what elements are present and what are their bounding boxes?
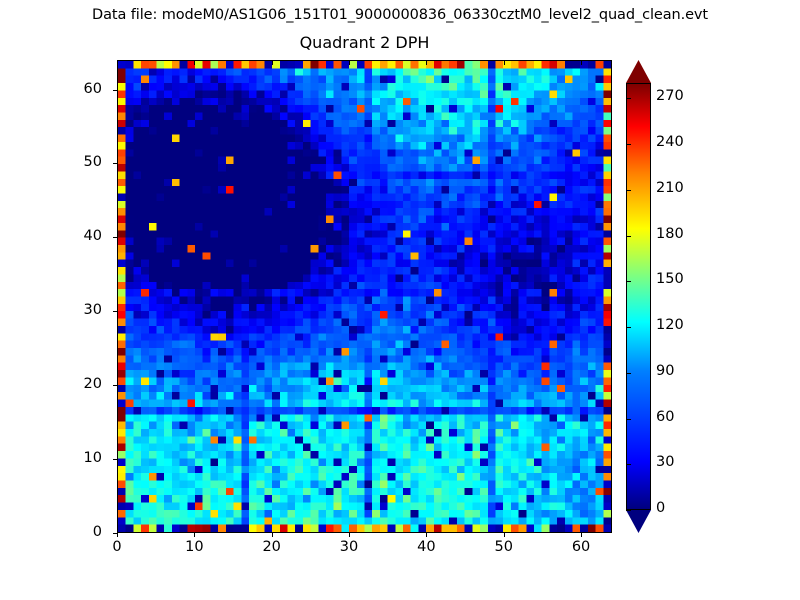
x-tick-label: 40 bbox=[396, 539, 456, 555]
colorbar-tick-label: 30 bbox=[656, 454, 674, 470]
x-tick-mark bbox=[581, 533, 582, 537]
y-tick-mark bbox=[113, 237, 117, 238]
colorbar-tick-mark bbox=[626, 144, 631, 145]
colorbar-under-cap bbox=[626, 510, 651, 533]
x-tick-mark-top bbox=[349, 61, 350, 65]
colorbar-tick-label: 120 bbox=[656, 317, 684, 333]
colorbar-tick-label: 0 bbox=[656, 500, 665, 516]
colorbar-tick-label: 150 bbox=[656, 271, 684, 287]
x-tick-mark bbox=[504, 533, 505, 537]
x-tick-mark-top bbox=[504, 61, 505, 65]
data-file-title: Data file: modeM0/AS1G06_151T01_90000008… bbox=[0, 7, 800, 23]
y-tick-label: 30 bbox=[42, 302, 102, 318]
plot-title: Quadrant 2 DPH bbox=[117, 33, 612, 52]
colorbar-tick-label: 180 bbox=[656, 226, 684, 242]
y-tick-label: 0 bbox=[42, 524, 102, 540]
x-tick-mark-top bbox=[426, 61, 427, 65]
y-tick-mark bbox=[113, 385, 117, 386]
colorbar-tick-label: 270 bbox=[656, 88, 684, 104]
colorbar-tick-mark bbox=[626, 281, 631, 282]
x-tick-label: 50 bbox=[474, 539, 534, 555]
colorbar-tick-mark bbox=[626, 510, 631, 511]
x-tick-mark-top bbox=[272, 61, 273, 65]
y-tick-label: 40 bbox=[42, 228, 102, 244]
x-tick-label: 30 bbox=[319, 539, 379, 555]
y-axis-ticks: 0102030405060 bbox=[45, 0, 110, 600]
y-tick-label: 50 bbox=[42, 154, 102, 170]
colorbar-over-cap bbox=[626, 60, 651, 83]
y-tick-label: 60 bbox=[42, 81, 102, 97]
colorbar-tick-mark bbox=[626, 98, 631, 99]
y-tick-mark bbox=[113, 90, 117, 91]
x-tick-mark bbox=[117, 533, 118, 537]
colorbar-tick-label: 90 bbox=[656, 363, 674, 379]
y-tick-mark bbox=[113, 533, 117, 534]
y-tick-label: 20 bbox=[42, 376, 102, 392]
y-tick-label: 10 bbox=[42, 450, 102, 466]
colorbar-tick-label: 210 bbox=[656, 180, 684, 196]
colorbar-tick-mark bbox=[626, 419, 631, 420]
x-tick-label: 10 bbox=[164, 539, 224, 555]
x-tick-mark-top bbox=[194, 61, 195, 65]
colorbar-tick-mark bbox=[626, 236, 631, 237]
x-tick-mark bbox=[349, 533, 350, 537]
x-tick-label: 60 bbox=[551, 539, 611, 555]
colorbar-tick-mark bbox=[626, 190, 631, 191]
x-tick-label: 20 bbox=[242, 539, 302, 555]
colorbar-tick-mark bbox=[626, 373, 631, 374]
colorbar bbox=[626, 60, 651, 533]
x-tick-mark bbox=[194, 533, 195, 537]
colorbar-tick-label: 60 bbox=[656, 409, 674, 425]
heatmap-axes bbox=[117, 60, 612, 533]
y-tick-mark bbox=[113, 311, 117, 312]
colorbar-gradient bbox=[626, 83, 651, 510]
y-tick-mark bbox=[113, 163, 117, 164]
x-tick-mark-top bbox=[117, 61, 118, 65]
colorbar-tick-mark bbox=[626, 464, 631, 465]
colorbar-tick-label: 240 bbox=[656, 134, 684, 150]
x-tick-mark-top bbox=[581, 61, 582, 65]
colorbar-tick-mark bbox=[626, 327, 631, 328]
y-tick-mark bbox=[113, 459, 117, 460]
x-tick-mark bbox=[426, 533, 427, 537]
heatmap-image bbox=[118, 61, 611, 532]
x-tick-mark bbox=[272, 533, 273, 537]
